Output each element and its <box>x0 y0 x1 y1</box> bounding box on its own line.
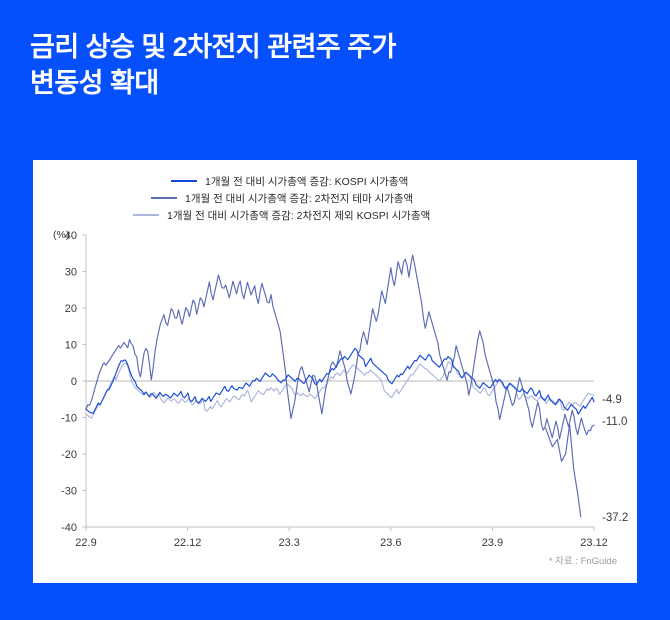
legend-label-kospi_ex_battery: 1개월 전 대비 시가총액 증감: 2차전지 제외 KOSPI 시가총액 <box>167 210 430 222</box>
y-axis-tick-label: -20 <box>61 449 77 461</box>
chart-card: 1개월 전 대비 시가총액 증감: KOSPI 시가총액1개월 전 대비 시가총… <box>33 160 637 583</box>
y-axis-tick-label: 0 <box>71 376 77 388</box>
chart-background <box>33 160 637 583</box>
y-axis-tick-label: -30 <box>61 486 77 498</box>
x-axis-tick-label: 22.9 <box>75 537 96 549</box>
y-axis-tick-label: -40 <box>61 522 77 534</box>
x-axis-tick-label: 23.3 <box>278 537 299 549</box>
legend-label-kospi: 1개월 전 대비 시가총액 증감: KOSPI 시가총액 <box>205 176 408 188</box>
end-label-kospi: -4.9 <box>602 394 622 406</box>
y-axis-tick-label: 40 <box>65 230 77 242</box>
legend-label-secondary_battery_theme: 1개월 전 대비 시가총액 증감: 2차전지 테마 시가총액 <box>185 193 413 205</box>
x-axis-tick-label: 22.12 <box>174 537 202 549</box>
end-label-secondary_battery_theme: -11.0 <box>602 416 627 428</box>
source-note: * 자료 : FnGuide <box>549 556 617 567</box>
x-axis-tick-label: 23.6 <box>380 537 401 549</box>
y-axis-tick-label: -10 <box>61 413 77 425</box>
y-axis-tick-label: 30 <box>65 267 77 279</box>
page-title: 금리 상승 및 2차전지 관련주 주가 변동성 확대 <box>30 30 500 101</box>
chart-figure: 1개월 전 대비 시가총액 증감: KOSPI 시가총액1개월 전 대비 시가총… <box>33 160 637 583</box>
y-axis-tick-label: 20 <box>65 303 77 315</box>
page-root: 금리 상승 및 2차전지 관련주 주가 변동성 확대 1개월 전 대비 시가총액… <box>0 0 670 620</box>
x-axis-tick-label: 23.9 <box>482 537 503 549</box>
x-axis-tick-label: 23.12 <box>580 537 608 549</box>
end-label-kospi_ex_battery: -37.2 <box>602 512 628 524</box>
y-axis-tick-label: 10 <box>65 340 77 352</box>
